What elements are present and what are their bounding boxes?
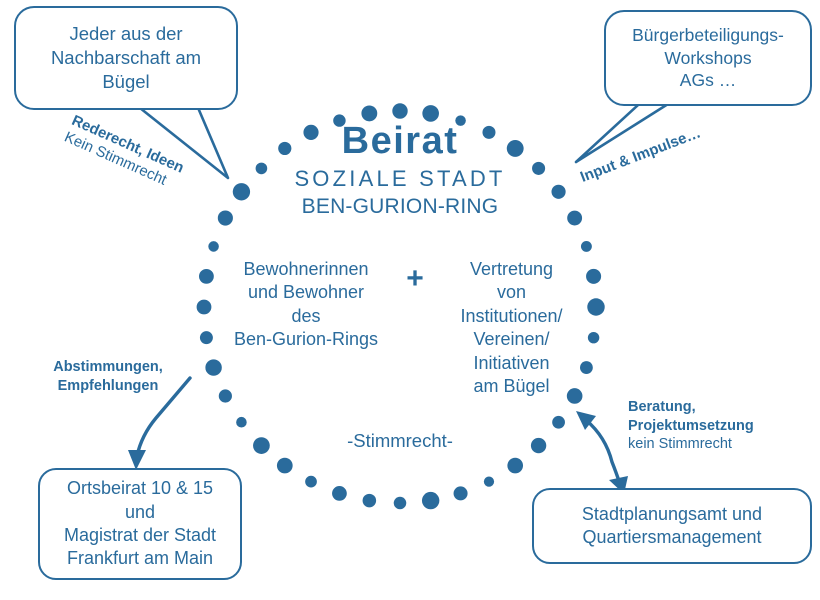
ring-dot — [233, 183, 250, 200]
ring-dot — [392, 103, 407, 118]
ring-dot — [277, 458, 293, 474]
ring-dot — [531, 438, 546, 453]
plus-icon: + — [396, 258, 434, 294]
ring-dot — [218, 210, 233, 225]
ring-dot — [484, 477, 494, 487]
circle-title-block: Beirat SOZIALE STADT BEN-GURION-RING — [250, 122, 550, 220]
arrow-beratung-head-up — [576, 411, 596, 430]
ring-dot — [394, 497, 407, 510]
arrow-abstimmungen-head — [128, 450, 146, 470]
subtitle-soziale-stadt: SOZIALE STADT — [250, 164, 550, 194]
diagram-canvas: Jeder aus derNachbarschaft amBügel Bürge… — [0, 0, 820, 600]
ring-dot — [454, 486, 468, 500]
bubble-buergerbeteiligung-text: Bürgerbeteiligungs-WorkshopsAGs … — [606, 24, 810, 92]
page-title: Beirat — [250, 122, 550, 162]
ring-dot — [567, 211, 582, 226]
bubble-nachbarschaft[interactable]: Jeder aus derNachbarschaft amBügel — [14, 6, 238, 110]
ring-dot — [551, 185, 565, 199]
ring-dot — [332, 486, 347, 501]
annotation-abstimmungen: Abstimmungen,Empfehlungen — [32, 358, 184, 395]
bubble-nachbarschaft-text: Jeder aus derNachbarschaft amBügel — [16, 22, 236, 94]
circle-footer-stimmrecht: -Stimmrecht- — [280, 430, 520, 452]
ring-dot — [552, 416, 565, 429]
ring-dot — [363, 494, 377, 508]
ring-dot — [253, 437, 270, 454]
ring-dot — [305, 476, 317, 488]
arrow-beratung — [586, 420, 620, 484]
ring-dot — [507, 458, 523, 474]
box-ortsbeirat-magistrat[interactable]: Ortsbeirat 10 & 15undMagistrat der Stadt… — [38, 468, 242, 580]
annotation-input-impulse-bold: Input & Impulse… — [578, 124, 704, 187]
annotation-beratung-bold: Beratung,Projektumsetzung — [628, 398, 810, 435]
ring-dot — [236, 417, 247, 428]
annotation-beratung: Beratung,Projektumsetzung kein Stimmrech… — [628, 398, 810, 454]
ring-dot — [361, 105, 377, 121]
box-ortsbeirat-text: Ortsbeirat 10 & 15undMagistrat der Stadt… — [40, 477, 240, 571]
bubble-buergerbeteiligung[interactable]: Bürgerbeteiligungs-WorkshopsAGs … — [604, 10, 812, 106]
circle-body-columns: Bewohnerinnenund BewohnerdesBen-Gurion-R… — [205, 258, 600, 398]
annotation-input-impulse: Input & Impulse… — [578, 124, 704, 187]
column-vertretung: VertretungvonInstitutionen/Vereinen/Init… — [434, 258, 589, 398]
ring-dot — [422, 492, 439, 509]
annotation-kein-stimmrecht-right: kein Stimmrecht — [628, 435, 810, 454]
box-stadtplanungsamt-text: Stadtplanungsamt undQuartiersmanagement — [534, 503, 810, 550]
subtitle-ben-gurion-ring: BEN-GURION-RING — [250, 194, 550, 220]
box-stadtplanungsamt-quartiersmanagement[interactable]: Stadtplanungsamt undQuartiersmanagement — [532, 488, 812, 564]
column-bewohner: Bewohnerinnenund BewohnerdesBen-Gurion-R… — [216, 258, 396, 352]
ring-dot — [581, 241, 592, 252]
annotation-rederecht: Rederecht, Ideen Kein Stimmrecht — [61, 112, 186, 195]
ring-dot — [208, 241, 219, 252]
